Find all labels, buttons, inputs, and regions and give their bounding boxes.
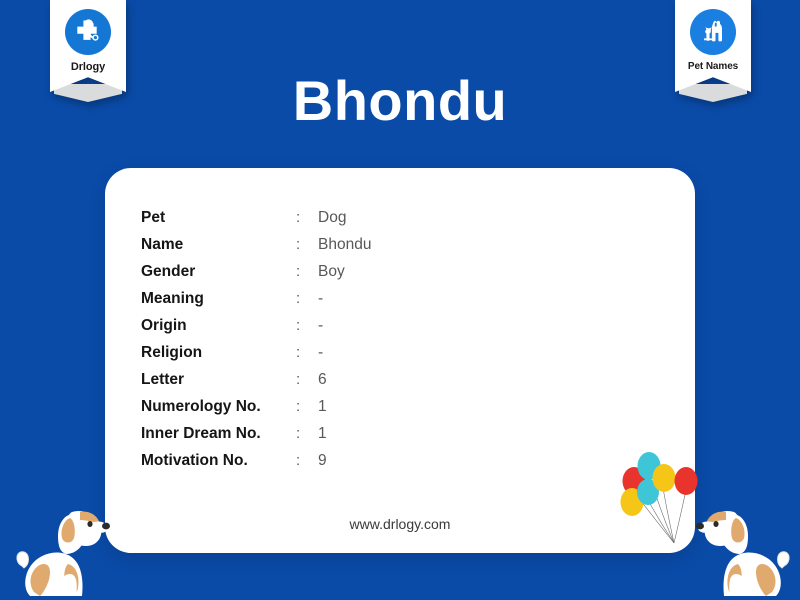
detail-label: Religion xyxy=(141,344,296,362)
detail-value: Bhondu xyxy=(318,236,371,254)
detail-colon: : xyxy=(296,371,318,388)
detail-label: Origin xyxy=(141,317,296,335)
detail-value: 9 xyxy=(318,452,327,470)
detail-colon: : xyxy=(296,425,318,442)
detail-colon: : xyxy=(296,209,318,226)
medical-cross-stethoscope-icon xyxy=(69,13,107,51)
detail-value: 1 xyxy=(318,398,327,416)
detail-colon: : xyxy=(296,452,318,469)
pet-names-logo-circle xyxy=(690,9,736,55)
detail-label: Inner Dream No. xyxy=(141,425,296,443)
detail-value: Boy xyxy=(318,263,345,281)
detail-label: Numerology No. xyxy=(141,398,296,416)
detail-row: Gender : Boy xyxy=(141,263,561,290)
detail-label: Motivation No. xyxy=(141,452,296,470)
detail-row: Pet : Dog xyxy=(141,209,561,236)
drlogy-logo-circle xyxy=(65,9,111,55)
detail-colon: : xyxy=(296,317,318,334)
detail-colon: : xyxy=(296,263,318,280)
detail-label: Letter xyxy=(141,371,296,389)
detail-value: - xyxy=(318,344,323,362)
detail-colon: : xyxy=(296,290,318,307)
website-footer: www.drlogy.com xyxy=(105,516,695,532)
detail-label: Meaning xyxy=(141,290,296,308)
pet-name-detail-card: Pet : Dog Name : Bhondu Gender : Boy Mea… xyxy=(105,168,695,553)
dog-cat-icon xyxy=(694,13,732,51)
poster-canvas: Drlogy Pet Names Bhondu Pet xyxy=(0,0,800,600)
sitting-dog-icon xyxy=(694,492,790,600)
detail-row: Motivation No. : 9 xyxy=(141,452,561,479)
detail-value: - xyxy=(318,317,323,335)
detail-row: Name : Bhondu xyxy=(141,236,561,263)
detail-list: Pet : Dog Name : Bhondu Gender : Boy Mea… xyxy=(141,209,561,479)
detail-row: Numerology No. : 1 xyxy=(141,398,561,425)
detail-value: - xyxy=(318,290,323,308)
detail-colon: : xyxy=(296,236,318,253)
detail-value: 6 xyxy=(318,371,327,389)
detail-colon: : xyxy=(296,344,318,361)
detail-row: Meaning : - xyxy=(141,290,561,317)
detail-row: Inner Dream No. : 1 xyxy=(141,425,561,452)
detail-label: Name xyxy=(141,236,296,254)
detail-row: Letter : 6 xyxy=(141,371,561,398)
detail-label: Gender xyxy=(141,263,296,281)
detail-label: Pet xyxy=(141,209,296,227)
detail-colon: : xyxy=(296,398,318,415)
page-title: Bhondu xyxy=(0,68,800,133)
detail-value: 1 xyxy=(318,425,327,443)
detail-value: Dog xyxy=(318,209,346,227)
detail-row: Origin : - xyxy=(141,317,561,344)
sitting-dog-icon xyxy=(16,492,112,600)
detail-row: Religion : - xyxy=(141,344,561,371)
